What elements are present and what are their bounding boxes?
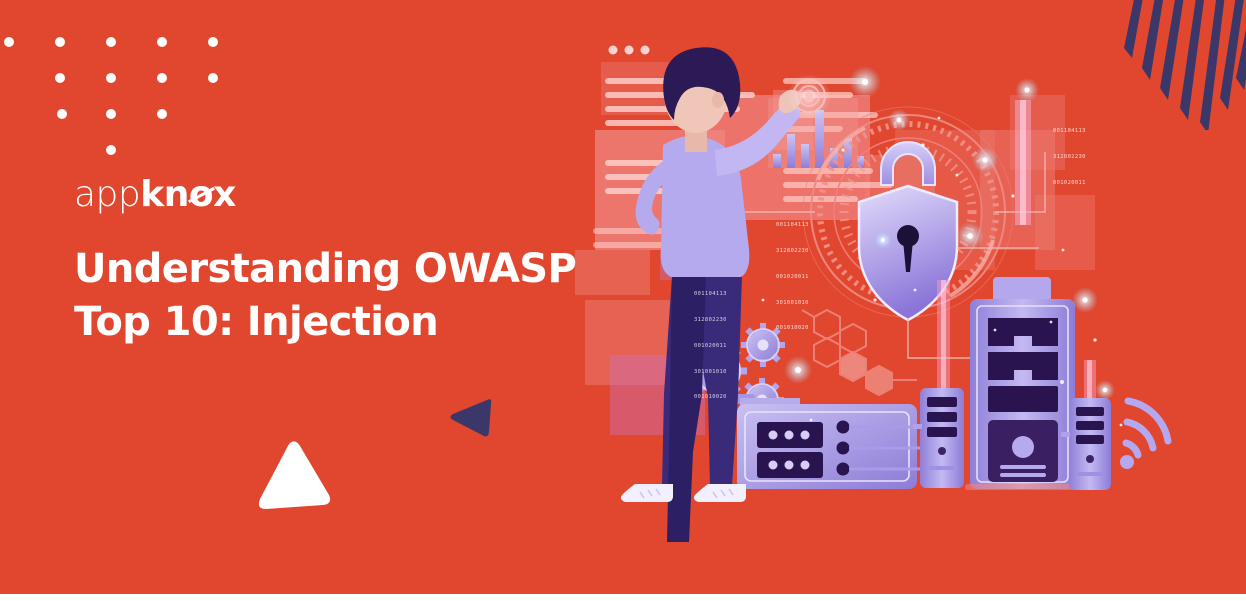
binary-block-top-right: 001104113 312802230 001020011 — [1053, 110, 1086, 205]
cybersecurity-hero-illustration: 001104113 312802230 001020011 301001010 … — [565, 0, 1246, 594]
binary-block-left: 001104113 312802230 001020011 301001010 … — [694, 273, 727, 419]
decor-dot — [106, 37, 116, 47]
decor-dot — [55, 37, 65, 47]
decor-dot — [106, 109, 116, 119]
page-title: Understanding OWASP Top 10: Injection — [74, 243, 594, 349]
decor-dot — [157, 73, 167, 83]
banner-canvas: appknox Understanding OWASP Top 10: Inje… — [0, 0, 1246, 594]
page-title-line-1: Understanding OWASP — [74, 246, 576, 292]
decor-dot — [57, 109, 67, 119]
decor-dot — [106, 73, 116, 83]
decor-dot — [55, 73, 65, 83]
white-rounded-triangle — [255, 437, 335, 512]
decor-dot — [157, 109, 167, 119]
control-panel — [733, 394, 945, 489]
bottom-white-strip — [0, 594, 1246, 601]
logo-text-bold-post: x — [213, 174, 236, 215]
page-title-line-2: Top 10: Injection — [74, 296, 594, 349]
server-tower — [965, 277, 1081, 490]
decor-dot — [106, 145, 116, 155]
server-rack-left — [913, 388, 964, 488]
logo-slashed-o-icon: o — [189, 177, 213, 213]
hexagon-mesh — [802, 310, 917, 395]
decor-dot — [208, 37, 218, 47]
decor-dot — [208, 73, 218, 83]
appknox-logo[interactable]: appknox — [74, 177, 236, 213]
wifi-icon — [1120, 401, 1168, 469]
decor-dot — [4, 37, 14, 47]
logo-text-light: app — [74, 174, 140, 215]
fingerprint-touch — [787, 74, 831, 118]
logo-text-bold-pre: kn — [140, 174, 189, 215]
decor-dot — [157, 37, 167, 47]
binary-block-mid: 001104113 312802230 001020011 301001010 … — [776, 204, 809, 350]
navy-rounded-triangle — [447, 395, 492, 440]
illustration-svg — [565, 0, 1246, 594]
